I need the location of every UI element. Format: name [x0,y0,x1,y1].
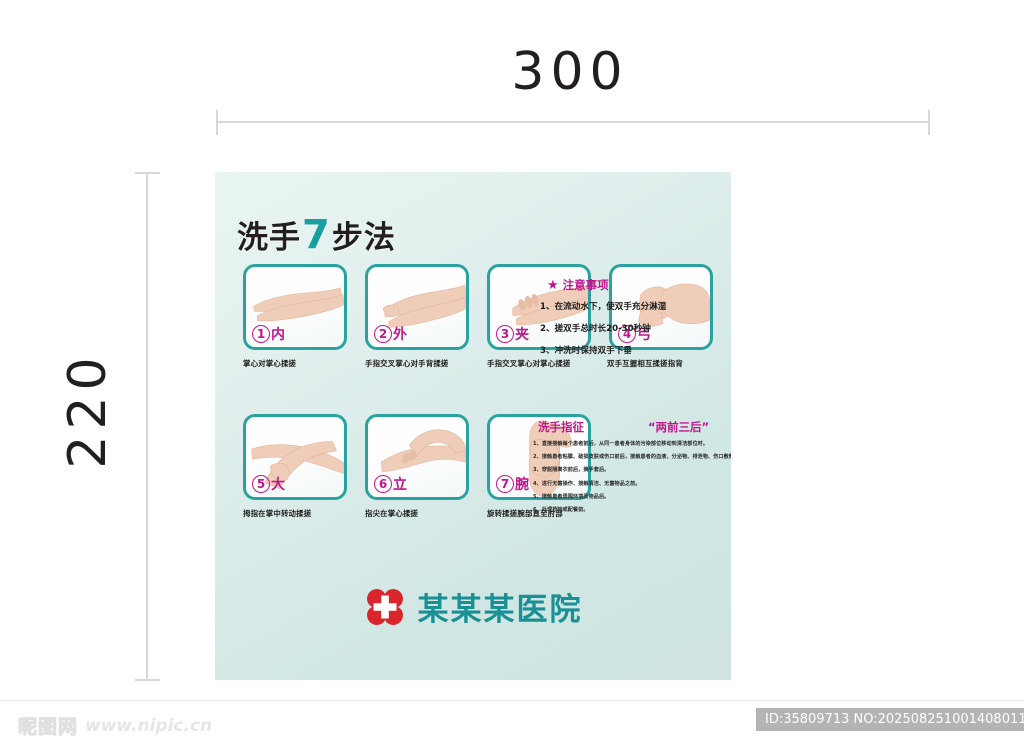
notice-item: 1、在流动水下，使双手充分淋湿 [540,300,730,312]
step-number-7: 7 [496,475,514,493]
step-card-1[interactable]: 1 内 [243,264,347,350]
width-dimension-line [216,121,930,123]
indication-title: 洗手指征 [538,419,584,435]
step-badge-3: 3 夹 [496,324,529,344]
indication-item: 1、直接接触每个患者前后，从同一患者身体的污染部位移动到清洁部位时。 [533,440,731,447]
step-card-5[interactable]: 5 大 [243,414,347,500]
step-caption-1: 掌心对掌心揉搓 [243,358,296,369]
star-icon: ★ [547,278,559,293]
step-card-6[interactable]: 6 立 [365,414,469,500]
step-keyword-6: 立 [393,474,407,494]
step-number-2: 2 [374,325,392,343]
footer-divider [0,700,1024,701]
indication-item: 4、进行无菌操作、接触清洁、无菌物品之前。 [533,480,731,487]
step-badge-1: 1 内 [252,324,285,344]
step-badge-6: 6 立 [374,474,407,494]
step-keyword-7: 腕 [515,474,529,494]
notice-item: 2、搓双手总时长20-30秒钟 [540,322,730,334]
indication-item: 6、处理药物或配餐前。 [533,506,731,513]
height-dimension-tick-top [135,172,160,174]
width-dimension-tick-right [928,110,930,135]
poster-artboard: 洗手7步法 1 内 掌心对掌心揉搓 [215,172,731,680]
hospital-footer: 某某某医院 [215,584,731,629]
red-cross-medical-icon [364,586,406,628]
notice-list: 1、在流动水下，使双手充分淋湿 2、搓双手总时长20-30秒钟 3、冲洗时保持双… [540,300,730,366]
step-caption-2: 手指交叉掌心对手背揉搓 [365,358,449,369]
height-dimension-line [146,172,148,680]
width-dimension-tick-left [216,110,218,135]
step-caption-6: 指尖在掌心揉搓 [365,508,418,519]
notice-title: ★ 注意事项 [547,277,609,293]
step-keyword-2: 外 [393,324,407,344]
step-number-1: 1 [252,325,270,343]
poster-title-suffix: 步法 [332,220,396,256]
step-badge-2: 2 外 [374,324,407,344]
image-id-badge: ID:35809713 NO:20250825100140801103 [756,708,1024,731]
poster-title-prefix: 洗手 [237,220,301,256]
indication-list: 1、直接接触每个患者前后，从同一患者身体的污染部位移动到清洁部位时。 2、接触患… [533,440,731,519]
step-caption-5: 拇指在掌中转动揉搓 [243,508,311,519]
step-badge-7: 7 腕 [496,474,529,494]
watermark-url: www.nipic.cn [85,716,212,736]
site-watermark: 昵图网 www.nipic.cn [18,712,212,739]
poster-title-number: 7 [301,212,332,258]
indication-item: 3、穿脱隔离衣前后，摘手套后。 [533,466,731,473]
hospital-name: 某某某医院 [418,584,583,629]
step-keyword-5: 大 [271,474,285,494]
step-keyword-3: 夹 [515,324,529,344]
step-keyword-1: 内 [271,324,285,344]
indication-item: 2、接触患者粘膜、破损皮肤或伤口前后，接触患者的血液、分泌物、排泄物、伤口敷料之… [533,453,731,460]
indication-subtitle: “两前三后” [648,419,709,435]
step-card-2[interactable]: 2 外 [365,264,469,350]
step-number-5: 5 [252,475,270,493]
step-badge-5: 5 大 [252,474,285,494]
step-number-3: 3 [496,325,514,343]
screenshot-canvas: 300 220 洗手7步法 1 内 掌心对掌心揉搓 [0,0,1024,749]
height-dimension-label: 220 [58,320,118,500]
notice-item: 3、冲洗时保持双手下垂 [540,344,730,356]
indication-item: 5、接触患者周围环境及物品后。 [533,493,731,500]
height-dimension-tick-bottom [135,679,160,681]
notice-title-text: 注意事项 [563,278,609,292]
poster-title: 洗手7步法 [237,212,396,258]
width-dimension-label: 300 [470,42,670,102]
step-number-6: 6 [374,475,392,493]
watermark-logo-text: 昵图网 [18,712,78,739]
